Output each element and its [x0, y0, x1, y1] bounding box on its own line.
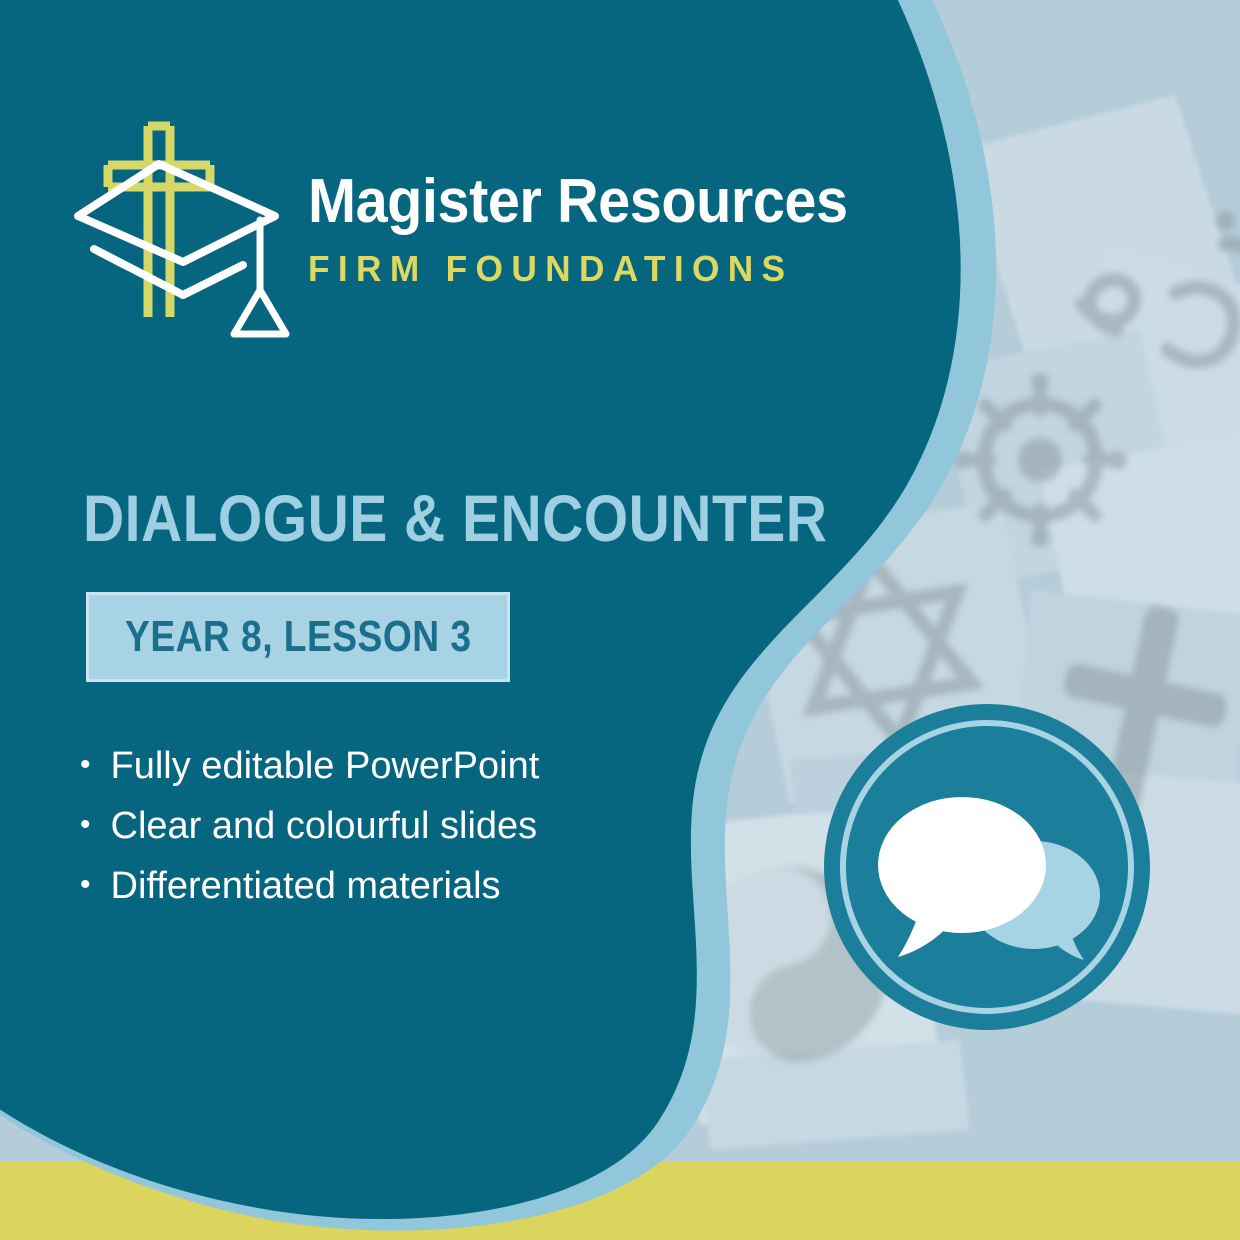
brand-tagline: FIRM FOUNDATIONS: [308, 248, 877, 290]
bullet-icon: •: [80, 810, 91, 840]
brand-logo: Magister Resources FIRM FOUNDATIONS: [70, 112, 888, 342]
feature-label: Fully editable PowerPoint: [111, 736, 540, 796]
list-item: • Clear and colourful slides: [80, 796, 539, 856]
list-item: • Differentiated materials: [80, 856, 539, 916]
feature-label: Differentiated materials: [111, 856, 501, 916]
speech-bubbles-emblem: [822, 702, 1152, 1032]
brand-name: Magister Resources: [308, 170, 848, 233]
list-item: • Fully editable PowerPoint: [80, 736, 539, 796]
bullet-icon: •: [80, 870, 91, 900]
lesson-title: DIALOGUE & ENCOUNTER: [83, 482, 827, 557]
promo-card: Magister Resources FIRM FOUNDATIONS DIAL…: [0, 0, 1240, 1240]
graduation-cap-with-cross-icon: [70, 112, 300, 342]
content-layer: Magister Resources FIRM FOUNDATIONS DIAL…: [0, 0, 1240, 1240]
feature-label: Clear and colourful slides: [111, 796, 538, 856]
bullet-icon: •: [80, 750, 91, 780]
lesson-badge-label: YEAR 8, LESSON 3: [125, 613, 471, 662]
feature-list: • Fully editable PowerPoint • Clear and …: [80, 736, 539, 916]
brand-wordmark: Magister Resources FIRM FOUNDATIONS: [308, 170, 888, 289]
lesson-badge: YEAR 8, LESSON 3: [86, 592, 510, 682]
